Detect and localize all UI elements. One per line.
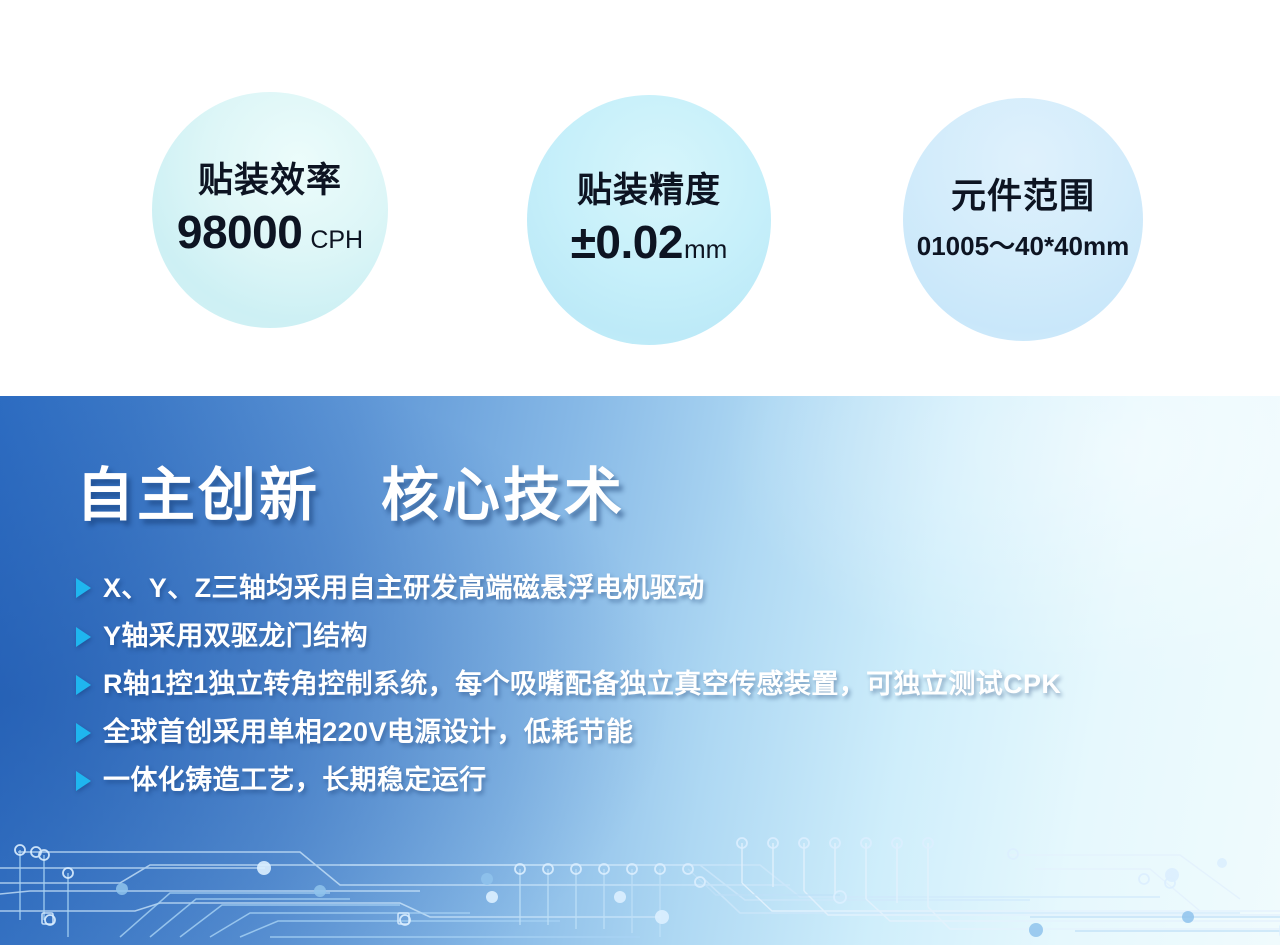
spec-title-placement-accuracy: 贴装精度 — [577, 171, 721, 211]
triangle-right-icon — [76, 627, 91, 647]
spec-value-placement-accuracy: ±0.02 mm — [571, 216, 728, 269]
tech-content-wrapper: 自主创新 核心技术 X、Y、Z三轴均采用自主研发高端磁悬浮电机驱动 Y轴采用双驱… — [0, 396, 1280, 798]
spec-number-component-range: 01005～40*40mm — [917, 232, 1130, 262]
spec-bubble-placement-efficiency: 贴装效率 98000 CPH — [152, 92, 388, 328]
spec-title-component-range: 元件范围 — [951, 177, 1095, 217]
feature-list-item: 全球首创采用单相220V电源设计，低耗节能 — [76, 715, 1280, 750]
spec-number-placement-efficiency: 98000 — [177, 206, 302, 259]
core-technology-section: 自主创新 核心技术 X、Y、Z三轴均采用自主研发高端磁悬浮电机驱动 Y轴采用双驱… — [0, 396, 1280, 945]
spec-bubble-component-range: 元件范围 01005～40*40mm — [903, 98, 1143, 341]
feature-text: X、Y、Z三轴均采用自主研发高端磁悬浮电机驱动 — [103, 571, 705, 606]
spec-unit-placement-accuracy: mm — [684, 235, 727, 265]
spec-unit-placement-efficiency: CPH — [310, 226, 363, 255]
triangle-right-icon — [76, 723, 91, 743]
spec-title-placement-efficiency: 贴装效率 — [198, 161, 342, 201]
triangle-right-icon — [76, 771, 91, 791]
triangle-right-icon — [76, 578, 91, 598]
feature-list-item: X、Y、Z三轴均采用自主研发高端磁悬浮电机驱动 — [76, 571, 1280, 606]
feature-list-item: 一体化铸造工艺，长期稳定运行 — [76, 763, 1280, 798]
feature-text: R轴1控1独立转角控制系统，每个吸嘴配备独立真空传感装置，可独立测试CPK — [103, 667, 1061, 702]
spec-value-component-range: 01005～40*40mm — [917, 232, 1130, 262]
pcb-circuit-decoration — [0, 825, 1280, 945]
feature-list-item: Y轴采用双驱龙门结构 — [76, 619, 1280, 654]
triangle-right-icon — [76, 675, 91, 695]
feature-text: Y轴采用双驱龙门结构 — [103, 619, 368, 654]
feature-list-item: R轴1控1独立转角控制系统，每个吸嘴配备独立真空传感装置，可独立测试CPK — [76, 667, 1280, 702]
section-heading: 自主创新 核心技术 — [76, 466, 1280, 527]
spec-bubble-placement-accuracy: 贴装精度 ±0.02 mm — [527, 95, 771, 345]
spec-value-placement-efficiency: 98000 CPH — [177, 206, 363, 259]
spec-number-placement-accuracy: ±0.02 — [571, 216, 683, 269]
feature-text: 一体化铸造工艺，长期稳定运行 — [103, 763, 487, 798]
slide-page: 贴装效率 98000 CPH 贴装精度 ±0.02 mm 元件范围 01005～… — [0, 0, 1280, 945]
core-technology-feature-list: X、Y、Z三轴均采用自主研发高端磁悬浮电机驱动 Y轴采用双驱龙门结构 R轴1控1… — [76, 571, 1280, 798]
spec-highlights-section: 贴装效率 98000 CPH 贴装精度 ±0.02 mm 元件范围 01005～… — [0, 0, 1280, 396]
feature-text: 全球首创采用单相220V电源设计，低耗节能 — [103, 715, 633, 750]
